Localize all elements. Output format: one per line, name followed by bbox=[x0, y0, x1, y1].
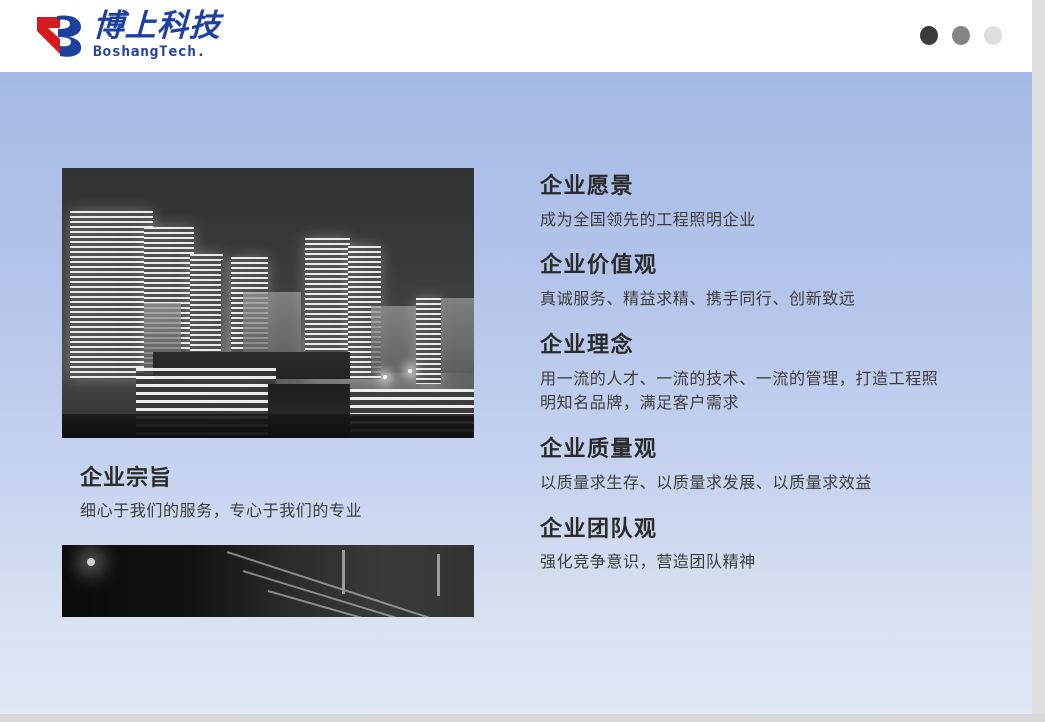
value-title: 企业团队观 bbox=[540, 515, 940, 545]
brand-wordmark: 博上科技 BoshangTech. bbox=[93, 11, 221, 59]
carousel-dot-2[interactable] bbox=[952, 26, 970, 45]
value-desc: 用一流的人才、一流的技术、一流的管理，打造工程照明知名品牌，满足客户需求 bbox=[540, 367, 940, 417]
value-title: 企业价值观 bbox=[540, 251, 940, 281]
carousel-dot-3[interactable] bbox=[984, 26, 1002, 45]
city-skyline-night-photo bbox=[62, 168, 474, 438]
carousel-indicator[interactable] bbox=[920, 26, 1002, 45]
value-item-quality: 企业质量观 以质量求生存、以质量求发展、以质量求效益 bbox=[540, 435, 940, 495]
left-column: 企业宗旨 细心于我们的服务，专心于我们的专业 bbox=[62, 168, 474, 617]
road-scene-layer bbox=[62, 545, 474, 617]
site-header: 博上科技 BoshangTech. bbox=[0, 0, 1032, 72]
vertical-scrollbar-track[interactable] bbox=[1032, 0, 1045, 722]
content-area: 企业宗旨 细心于我们的服务，专心于我们的专业 企业愿景 成为全国领先的工程照明企… bbox=[0, 72, 1032, 714]
value-item-values: 企业价值观 真诚服务、精益求精、携手同行、创新致远 bbox=[540, 251, 940, 311]
value-title: 企业理念 bbox=[540, 331, 940, 361]
building-midrise bbox=[371, 306, 420, 374]
brand-name-cn: 博上科技 bbox=[92, 11, 221, 43]
brand-logo[interactable]: 博上科技 BoshangTech. bbox=[34, 11, 221, 59]
value-desc: 以质量求生存、以质量求发展、以质量求效益 bbox=[540, 471, 940, 496]
value-title: 企业愿景 bbox=[540, 172, 940, 202]
page-root: 博上科技 BoshangTech. bbox=[0, 0, 1045, 722]
foreground-street bbox=[62, 414, 474, 438]
value-desc: 真诚服务、精益求精、携手同行、创新致远 bbox=[540, 287, 940, 312]
company-purpose-title: 企业宗旨 bbox=[80, 464, 474, 494]
night-road-photo bbox=[62, 545, 474, 617]
company-purpose-block: 企业宗旨 细心于我们的服务，专心于我们的专业 bbox=[62, 464, 474, 523]
window-bottom-edge bbox=[0, 714, 1045, 722]
building-tower bbox=[70, 211, 152, 378]
value-item-philosophy: 企业理念 用一流的人才、一流的技术、一流的管理，打造工程照明知名品牌，满足客户需… bbox=[540, 331, 940, 416]
brand-name-en: BoshangTech. bbox=[93, 45, 224, 60]
value-desc: 强化竞争意识，营造团队精神 bbox=[540, 550, 940, 575]
boshang-bs-logo-icon bbox=[34, 11, 86, 59]
value-item-team: 企业团队观 强化竞争意识，营造团队精神 bbox=[540, 515, 940, 575]
carousel-dot-1[interactable] bbox=[920, 26, 938, 45]
value-item-vision: 企业愿景 成为全国领先的工程照明企业 bbox=[540, 172, 940, 232]
right-column: 企业愿景 成为全国领先的工程照明企业 企业价值观 真诚服务、精益求精、携手同行、… bbox=[540, 172, 940, 575]
street-light-pole bbox=[437, 554, 440, 596]
street-light-pole bbox=[342, 550, 345, 595]
building-midrise bbox=[441, 298, 474, 374]
value-desc: 成为全国领先的工程照明企业 bbox=[540, 208, 940, 233]
company-purpose-desc: 细心于我们的服务，专心于我们的专业 bbox=[80, 499, 474, 524]
value-title: 企业质量观 bbox=[540, 435, 940, 465]
building-tower bbox=[416, 298, 441, 384]
